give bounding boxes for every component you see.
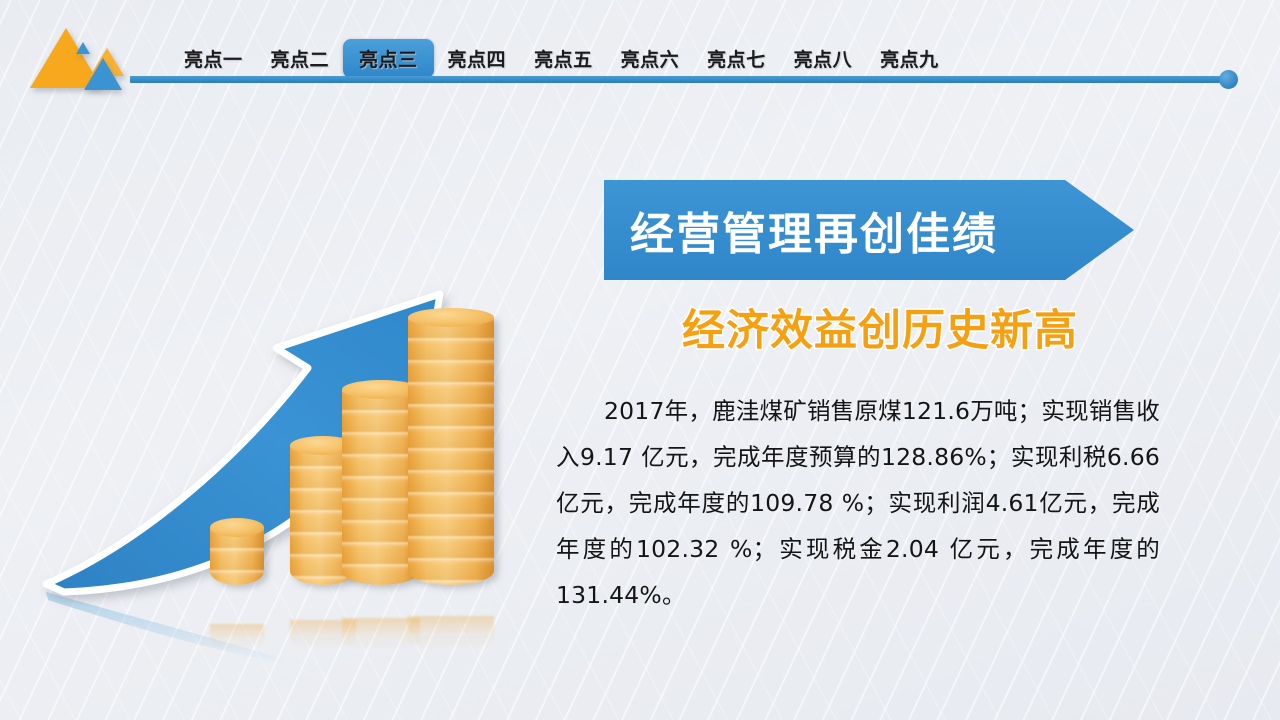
nav-item-4[interactable]: 亮点四 xyxy=(434,39,521,78)
mountain-triangles-logo xyxy=(22,22,132,90)
growth-illustration xyxy=(40,140,560,680)
subtitle-heading: 经济效益创历史新高 xyxy=(630,296,1130,358)
nav-item-3[interactable]: 亮点三 xyxy=(343,39,434,78)
nav-tabs: 亮点一 亮点二 亮点三 亮点四 亮点五 亮点六 亮点七 亮点八 亮点九 xyxy=(170,38,953,78)
coin-stack-1-reflection xyxy=(210,624,264,650)
logo-triangle-small-blue-icon xyxy=(76,42,90,54)
coin-stack-1 xyxy=(210,527,264,585)
nav-item-8[interactable]: 亮点八 xyxy=(780,39,867,78)
body-paragraph: 2017年，鹿洼煤矿销售原煤121.6万吨；实现销售收入9.17 亿元，完成年度… xyxy=(556,388,1160,618)
nav-underline-rule xyxy=(130,76,1230,83)
coin-stack-4-reflection xyxy=(408,616,494,650)
page-title: 经营管理再创佳绩 xyxy=(630,198,998,262)
coin-stack-1-body xyxy=(210,527,264,585)
nav-item-2[interactable]: 亮点二 xyxy=(257,39,344,78)
nav-item-7[interactable]: 亮点七 xyxy=(693,39,780,78)
coin-stack-1-top xyxy=(210,518,264,537)
header: 亮点一 亮点二 亮点三 亮点四 亮点五 亮点六 亮点七 亮点八 亮点九 xyxy=(0,0,1280,108)
nav-item-5[interactable]: 亮点五 xyxy=(520,39,607,78)
coin-stack-4-top xyxy=(408,308,494,327)
nav-end-dot-icon xyxy=(1219,70,1238,89)
nav-item-6[interactable]: 亮点六 xyxy=(607,39,694,78)
logo-triangle-mid-blue-icon xyxy=(84,58,122,90)
coin-stack-4-body xyxy=(408,317,494,585)
nav-item-9[interactable]: 亮点九 xyxy=(866,39,953,78)
banner-chevron: 经营管理再创佳绩 xyxy=(604,180,1134,280)
slide-root: 亮点一 亮点二 亮点三 亮点四 亮点五 亮点六 亮点七 亮点八 亮点九 xyxy=(0,0,1280,720)
coin-stack-4 xyxy=(408,317,494,585)
nav-item-1[interactable]: 亮点一 xyxy=(170,39,257,78)
